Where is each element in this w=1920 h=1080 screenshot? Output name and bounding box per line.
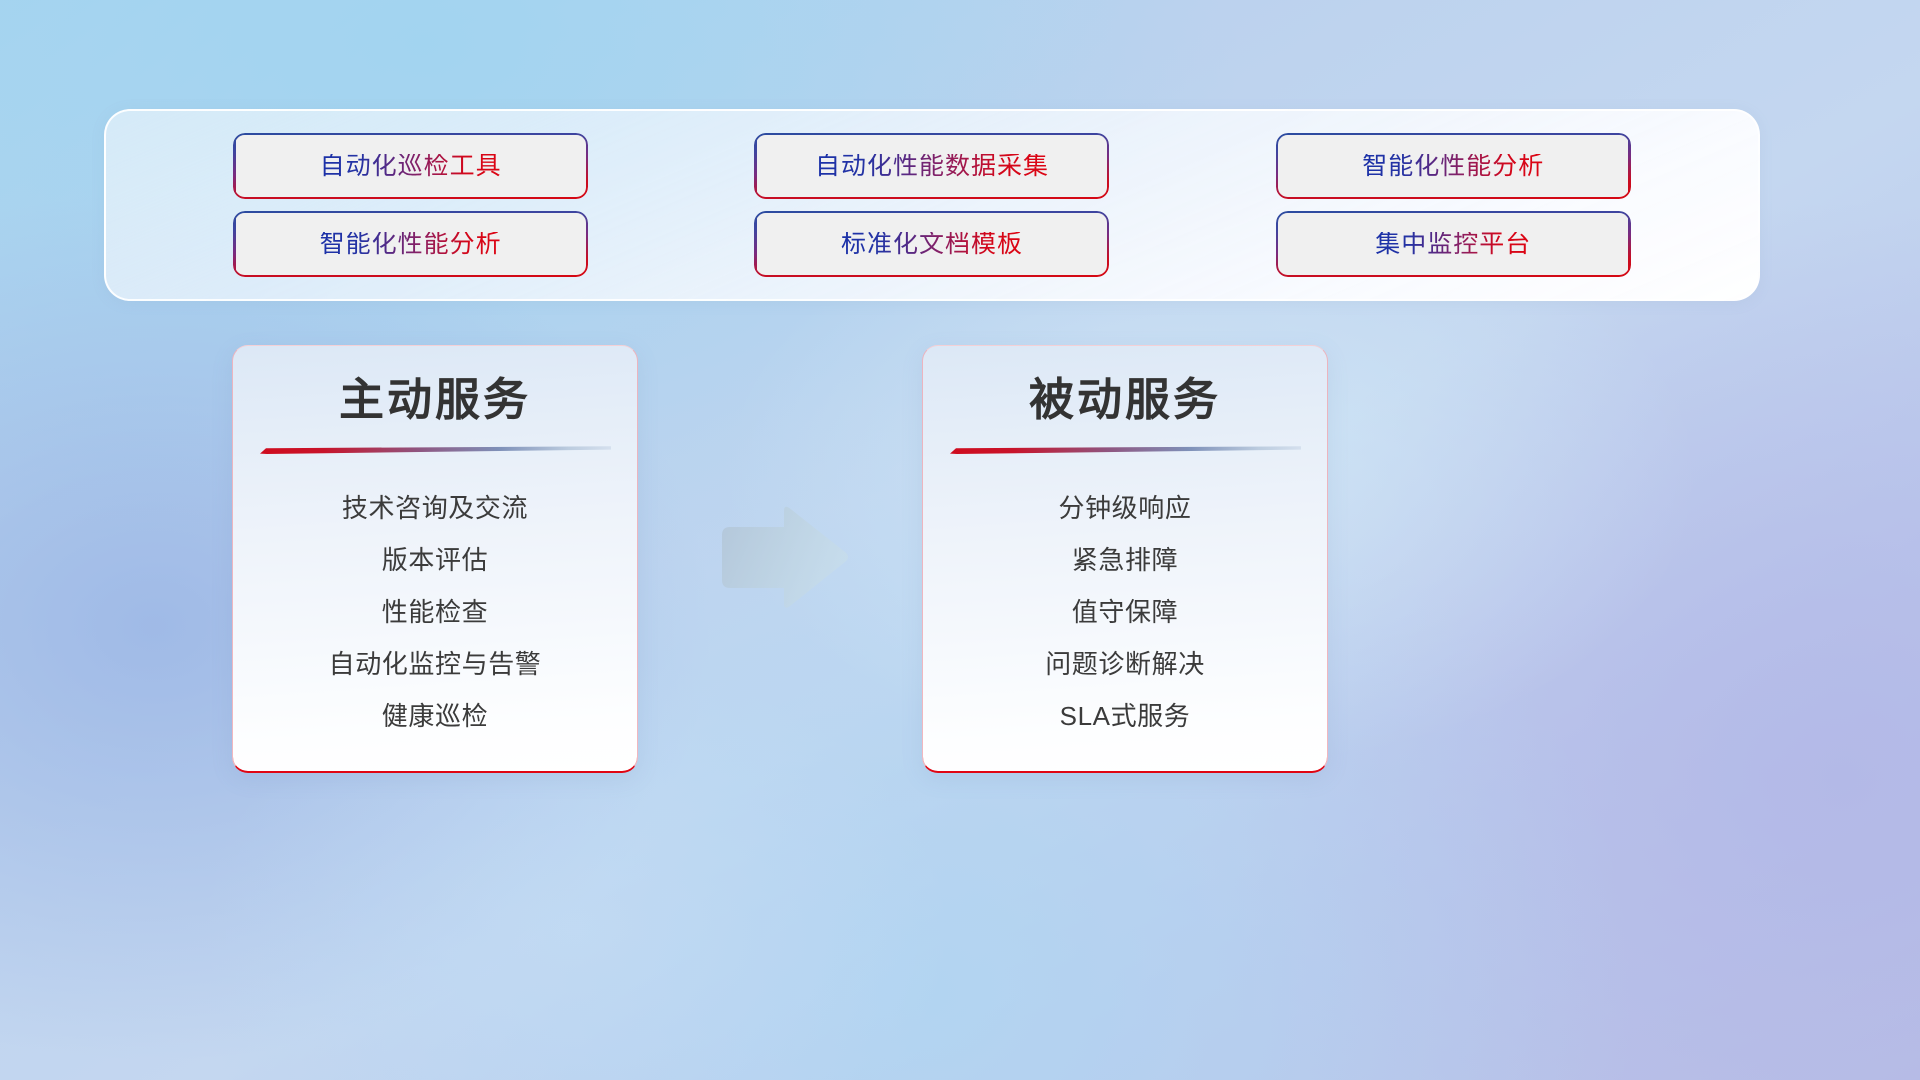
service-list-active: 技术咨询及交流 版本评估 性能检查 自动化监控与告警 健康巡检 [233,454,637,742]
service-list-item: 技术咨询及交流 [255,482,615,534]
capability-pill-intelligent-performance-analysis-top[interactable]: 智能化性能分析 [1276,133,1631,199]
card-title-active: 主动服务 [233,346,637,425]
service-list-item: 值守保障 [945,586,1305,638]
service-list-item: 自动化监控与告警 [255,638,615,690]
card-title-passive: 被动服务 [923,346,1327,425]
service-list-item: SLA式服务 [945,690,1305,742]
service-list-item: 分钟级响应 [945,482,1305,534]
service-card-passive: 被动服务 分钟级响应 紧急排障 值守保障 问题诊断解决 SLA式服务 [922,345,1328,773]
service-list-item: 紧急排障 [945,534,1305,586]
service-list-item: 版本评估 [255,534,615,586]
card-divider-passive [950,446,1301,454]
service-list-passive: 分钟级响应 紧急排障 值守保障 问题诊断解决 SLA式服务 [923,454,1327,742]
capability-pill-label: 集中监控平台 [1375,232,1531,257]
service-list-item: 健康巡检 [255,690,615,742]
service-card-active: 主动服务 技术咨询及交流 版本评估 性能检查 自动化监控与告警 健康巡检 [232,345,638,773]
service-list-item: 性能检查 [255,586,615,638]
capability-tags-panel: 自动化巡检工具 自动化性能数据采集 智能化性能分析 智能化性能分析 标准化文档模… [104,109,1760,301]
service-list-item: 问题诊断解决 [945,638,1305,690]
capability-pill-label: 智能化性能分析 [1362,154,1544,179]
capability-pill-automated-inspection-tool[interactable]: 自动化巡检工具 [233,133,588,199]
capability-pill-label: 自动化性能数据采集 [815,154,1049,179]
capability-pill-intelligent-performance-analysis[interactable]: 智能化性能分析 [233,211,588,277]
capability-pill-label: 标准化文档模板 [841,232,1023,257]
flow-arrow-icon [714,505,854,615]
capability-pill-label: 自动化巡检工具 [320,154,502,179]
card-divider-active [260,446,611,454]
capability-pill-label: 智能化性能分析 [320,232,502,257]
capability-pill-standardized-doc-template[interactable]: 标准化文档模板 [754,211,1109,277]
capability-pill-automated-performance-collection[interactable]: 自动化性能数据采集 [754,133,1109,199]
capability-pill-centralized-monitoring-platform[interactable]: 集中监控平台 [1276,211,1631,277]
